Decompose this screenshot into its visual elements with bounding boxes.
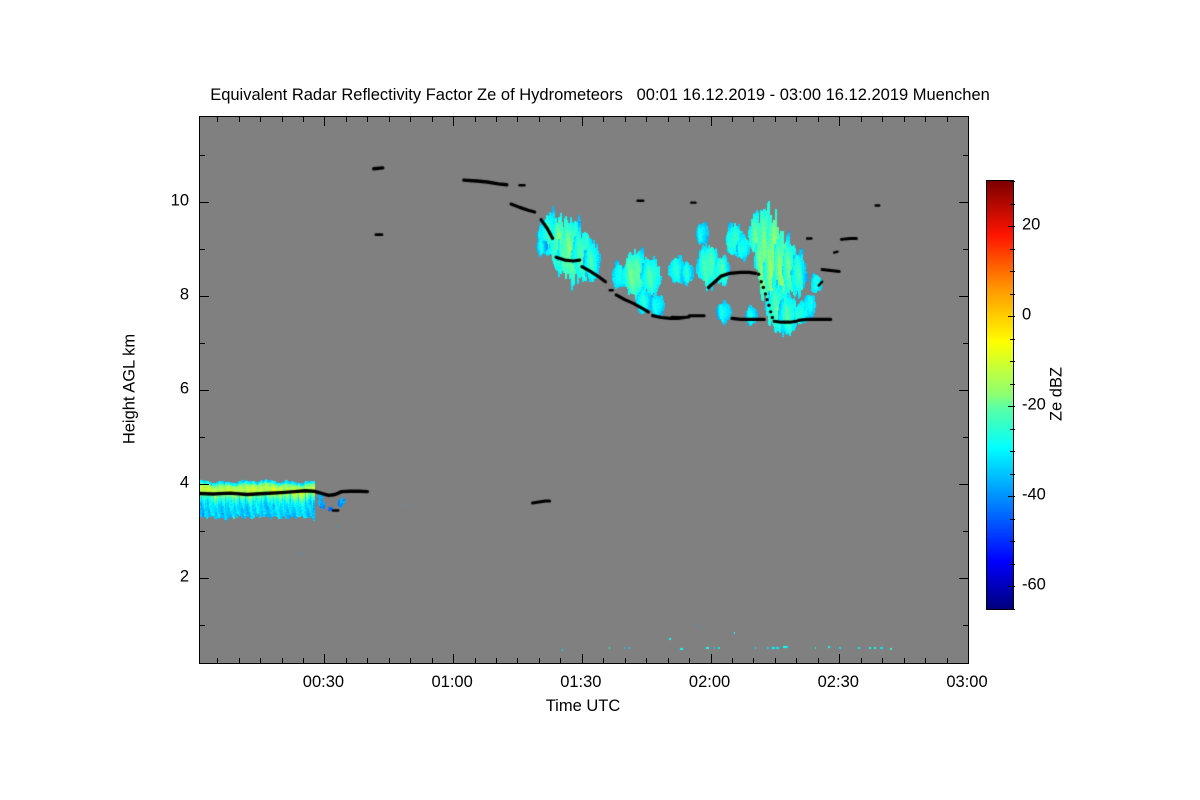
colorbar-tick xyxy=(1010,541,1015,542)
colorbar-label: Ze dBZ xyxy=(1048,367,1067,421)
x-tick-bottom xyxy=(796,658,797,663)
x-tick-label: 02:00 xyxy=(689,673,730,692)
x-tick-bottom xyxy=(947,658,948,663)
x-tick-top xyxy=(539,117,540,122)
colorbar-tick-label: 20 xyxy=(1022,216,1040,235)
x-tick-bottom xyxy=(925,658,926,663)
x-tick-top xyxy=(239,117,240,122)
x-tick-bottom xyxy=(582,654,583,663)
x-tick-label: 02:30 xyxy=(818,673,859,692)
colorbar-tick xyxy=(1010,429,1015,430)
x-tick-top xyxy=(689,117,690,122)
chart-title: Equivalent Radar Reflectivity Factor Ze … xyxy=(0,86,1200,105)
y-tick-label: 8 xyxy=(141,285,189,304)
colorbar-tick xyxy=(1008,586,1015,587)
colorbar-tick xyxy=(1010,271,1015,272)
colorbar-tick xyxy=(1010,249,1015,250)
y-tick-right xyxy=(959,484,968,485)
plot-area xyxy=(199,116,969,664)
x-tick-top xyxy=(732,117,733,122)
x-tick-bottom xyxy=(646,658,647,663)
y-tick-label: 2 xyxy=(141,568,189,587)
x-tick-bottom xyxy=(324,654,325,663)
x-tick-top xyxy=(582,117,583,126)
y-tick-left xyxy=(200,484,209,485)
x-tick-top xyxy=(796,117,797,122)
x-tick-top xyxy=(711,117,712,126)
y-tick-right xyxy=(963,343,968,344)
y-tick-right xyxy=(963,155,968,156)
x-tick-top xyxy=(603,117,604,122)
x-tick-label: 01:30 xyxy=(560,673,601,692)
colorbar-tick xyxy=(1010,384,1015,385)
y-tick-right xyxy=(963,625,968,626)
x-tick-top xyxy=(947,117,948,122)
x-tick-top xyxy=(818,117,819,122)
x-tick-top xyxy=(496,117,497,122)
x-tick-bottom xyxy=(904,658,905,663)
y-tick-label: 10 xyxy=(141,191,189,210)
x-tick-bottom xyxy=(668,658,669,663)
x-tick-bottom xyxy=(560,658,561,663)
y-tick-right xyxy=(959,578,968,579)
x-tick-bottom xyxy=(410,658,411,663)
reflectivity-heatmap-canvas xyxy=(200,117,968,663)
x-tick-bottom xyxy=(732,658,733,663)
x-tick-top xyxy=(389,117,390,122)
x-tick-top xyxy=(517,117,518,122)
y-tick-right xyxy=(959,202,968,203)
colorbar-tick xyxy=(1010,294,1015,295)
x-tick-top xyxy=(260,117,261,122)
colorbar-tick-label: -20 xyxy=(1022,396,1046,415)
x-tick-top xyxy=(367,117,368,122)
x-tick-top xyxy=(904,117,905,122)
y-tick-left xyxy=(200,155,205,156)
y-tick-label: 4 xyxy=(141,474,189,493)
x-tick-top xyxy=(453,117,454,126)
y-tick-label: 6 xyxy=(141,380,189,399)
y-tick-left xyxy=(200,531,205,532)
x-tick-bottom xyxy=(367,658,368,663)
x-tick-top xyxy=(839,117,840,126)
x-tick-top xyxy=(560,117,561,122)
colorbar-tick-label: -60 xyxy=(1022,576,1046,595)
x-tick-bottom xyxy=(496,658,497,663)
colorbar xyxy=(986,180,1014,610)
y-tick-left xyxy=(200,249,205,250)
x-axis-label: Time UTC xyxy=(199,697,967,716)
x-tick-bottom xyxy=(260,658,261,663)
y-tick-left xyxy=(200,343,205,344)
x-tick-label: 01:00 xyxy=(431,673,472,692)
y-tick-right xyxy=(963,437,968,438)
x-tick-bottom xyxy=(217,658,218,663)
x-tick-bottom xyxy=(711,654,712,663)
x-tick-bottom xyxy=(968,654,969,663)
x-tick-bottom xyxy=(818,658,819,663)
x-tick-bottom xyxy=(432,658,433,663)
x-tick-bottom xyxy=(753,658,754,663)
colorbar-tick-label: 0 xyxy=(1022,306,1031,325)
y-tick-left xyxy=(200,296,209,297)
x-tick-bottom xyxy=(389,658,390,663)
x-tick-bottom xyxy=(775,658,776,663)
x-tick-bottom xyxy=(517,658,518,663)
colorbar-gradient xyxy=(987,181,1013,609)
colorbar-tick xyxy=(1010,181,1015,182)
x-tick-top xyxy=(968,117,969,126)
x-tick-top xyxy=(432,117,433,122)
colorbar-tick-label: -40 xyxy=(1022,486,1046,505)
x-tick-top xyxy=(882,117,883,122)
x-tick-top xyxy=(346,117,347,122)
x-tick-top xyxy=(410,117,411,122)
x-tick-bottom xyxy=(625,658,626,663)
colorbar-tick xyxy=(1008,406,1015,407)
y-tick-left xyxy=(200,625,205,626)
x-tick-bottom xyxy=(839,654,840,663)
colorbar-tick xyxy=(1010,609,1015,610)
x-tick-bottom xyxy=(539,658,540,663)
y-tick-left xyxy=(200,202,209,203)
x-tick-top xyxy=(282,117,283,122)
y-tick-left xyxy=(200,437,205,438)
colorbar-tick xyxy=(1010,474,1015,475)
colorbar-tick xyxy=(1010,204,1015,205)
x-tick-top xyxy=(753,117,754,122)
x-tick-bottom xyxy=(303,658,304,663)
x-tick-bottom xyxy=(282,658,283,663)
y-tick-right xyxy=(959,390,968,391)
x-tick-bottom xyxy=(603,658,604,663)
colorbar-tick xyxy=(1010,361,1015,362)
x-tick-top xyxy=(861,117,862,122)
x-tick-top xyxy=(324,117,325,126)
x-tick-top xyxy=(775,117,776,122)
radar-reflectivity-figure: Equivalent Radar Reflectivity Factor Ze … xyxy=(0,0,1200,800)
y-tick-right xyxy=(959,296,968,297)
x-tick-bottom xyxy=(239,658,240,663)
colorbar-tick xyxy=(1010,339,1015,340)
colorbar-tick xyxy=(1008,226,1015,227)
colorbar-tick xyxy=(1010,564,1015,565)
y-tick-right xyxy=(963,249,968,250)
x-tick-bottom xyxy=(475,658,476,663)
y-axis-label: Height AGL km xyxy=(121,334,140,444)
x-tick-top xyxy=(303,117,304,122)
x-tick-bottom xyxy=(861,658,862,663)
x-tick-bottom xyxy=(346,658,347,663)
y-tick-right xyxy=(963,531,968,532)
x-tick-top xyxy=(646,117,647,122)
colorbar-tick xyxy=(1010,519,1015,520)
x-tick-label: 03:00 xyxy=(946,673,987,692)
x-tick-bottom xyxy=(882,658,883,663)
y-tick-left xyxy=(200,578,209,579)
x-tick-top xyxy=(925,117,926,122)
colorbar-tick xyxy=(1008,496,1015,497)
x-tick-top xyxy=(475,117,476,122)
x-tick-top xyxy=(668,117,669,122)
x-tick-bottom xyxy=(689,658,690,663)
x-tick-bottom xyxy=(453,654,454,663)
x-tick-top xyxy=(625,117,626,122)
x-tick-label: 00:30 xyxy=(303,673,344,692)
colorbar-tick xyxy=(1010,451,1015,452)
x-tick-top xyxy=(217,117,218,122)
y-tick-left xyxy=(200,390,209,391)
colorbar-tick xyxy=(1008,316,1015,317)
